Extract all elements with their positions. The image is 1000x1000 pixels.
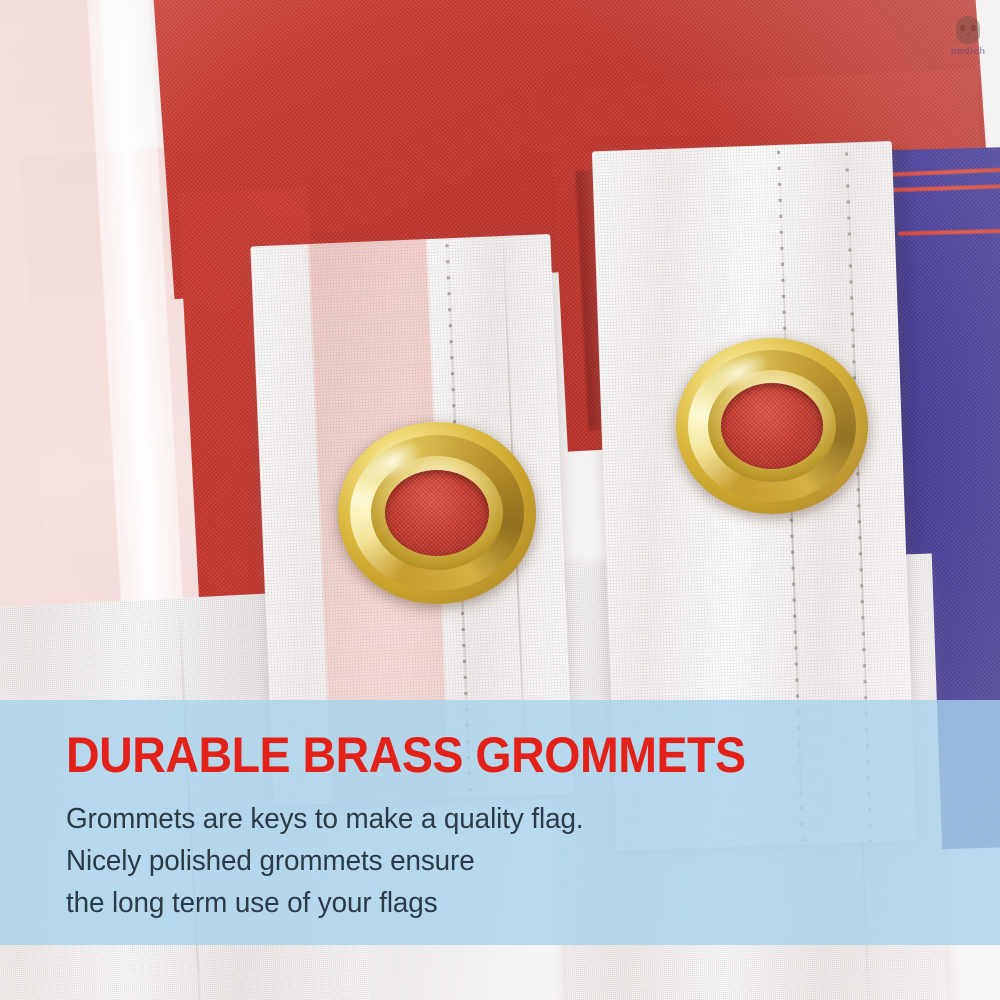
grommet-hole-left: [385, 470, 489, 556]
feature-text-banner: DURABLE BRASS GROMMETS Grommets are keys…: [0, 700, 1000, 945]
banner-body-copy: Grommets are keys to make a quality flag…: [66, 799, 963, 924]
banner-body-line-3: the long term use of your flags: [66, 883, 963, 925]
banner-content: DURABLE BRASS GROMMETS Grommets are keys…: [0, 700, 1000, 945]
product-feature-image: nodich DURABLE BRASS GROMMETS Grommets a…: [0, 0, 1000, 1000]
grommet-hole-weave-right: [721, 383, 823, 469]
grommet-hole-right: [721, 383, 823, 469]
banner-body-line-2: Nicely polished grommets ensure: [66, 841, 963, 883]
brass-grommet-right: [676, 338, 868, 514]
banner-headline: DURABLE BRASS GROMMETS: [66, 730, 935, 781]
banner-body-line-1: Grommets are keys to make a quality flag…: [66, 799, 963, 841]
grommet-hole-weave-left: [385, 470, 489, 556]
brass-grommet-left: [338, 422, 536, 604]
